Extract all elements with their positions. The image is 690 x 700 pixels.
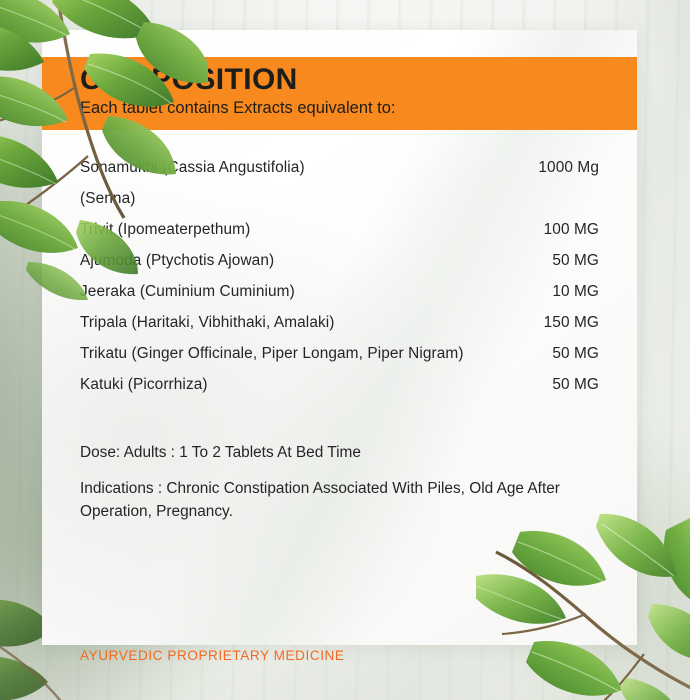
ingredient-quantity: 150 MG — [528, 307, 599, 338]
ingredient-name: Tripala (Haritaki, Vibhithaki, Amalaki) — [80, 307, 528, 338]
ingredient-quantity: 50 MG — [528, 369, 599, 400]
ingredient-quantity: 50 MG — [528, 338, 599, 369]
medicine-type-label: AYURVEDIC PROPRIETARY MEDICINE — [80, 648, 345, 663]
dose-text: Dose: Adults : 1 To 2 Tablets At Bed Tim… — [80, 442, 595, 464]
table-row: Trikatu (Ginger Officinale, Piper Longam… — [80, 338, 599, 369]
product-label-canvas: COMPOSITION Each tablet contains Extract… — [0, 0, 690, 700]
ingredient-quantity: 50 MG — [528, 245, 599, 276]
leaf-branch-bottom-right-icon — [476, 492, 690, 700]
ingredient-name: Katuki (Picorrhiza) — [80, 369, 528, 400]
ingredient-name: Trikatu (Ginger Officinale, Piper Longam… — [80, 338, 528, 369]
ingredient-quantity: 10 MG — [528, 276, 599, 307]
ingredient-quantity — [528, 183, 599, 214]
ingredient-quantity: 100 MG — [528, 214, 599, 245]
leaf-branch-top-left-icon — [0, 0, 208, 300]
table-row: Katuki (Picorrhiza) 50 MG — [80, 369, 599, 400]
ingredient-quantity: 1000 Mg — [528, 152, 599, 183]
table-row: Tripala (Haritaki, Vibhithaki, Amalaki) … — [80, 307, 599, 338]
